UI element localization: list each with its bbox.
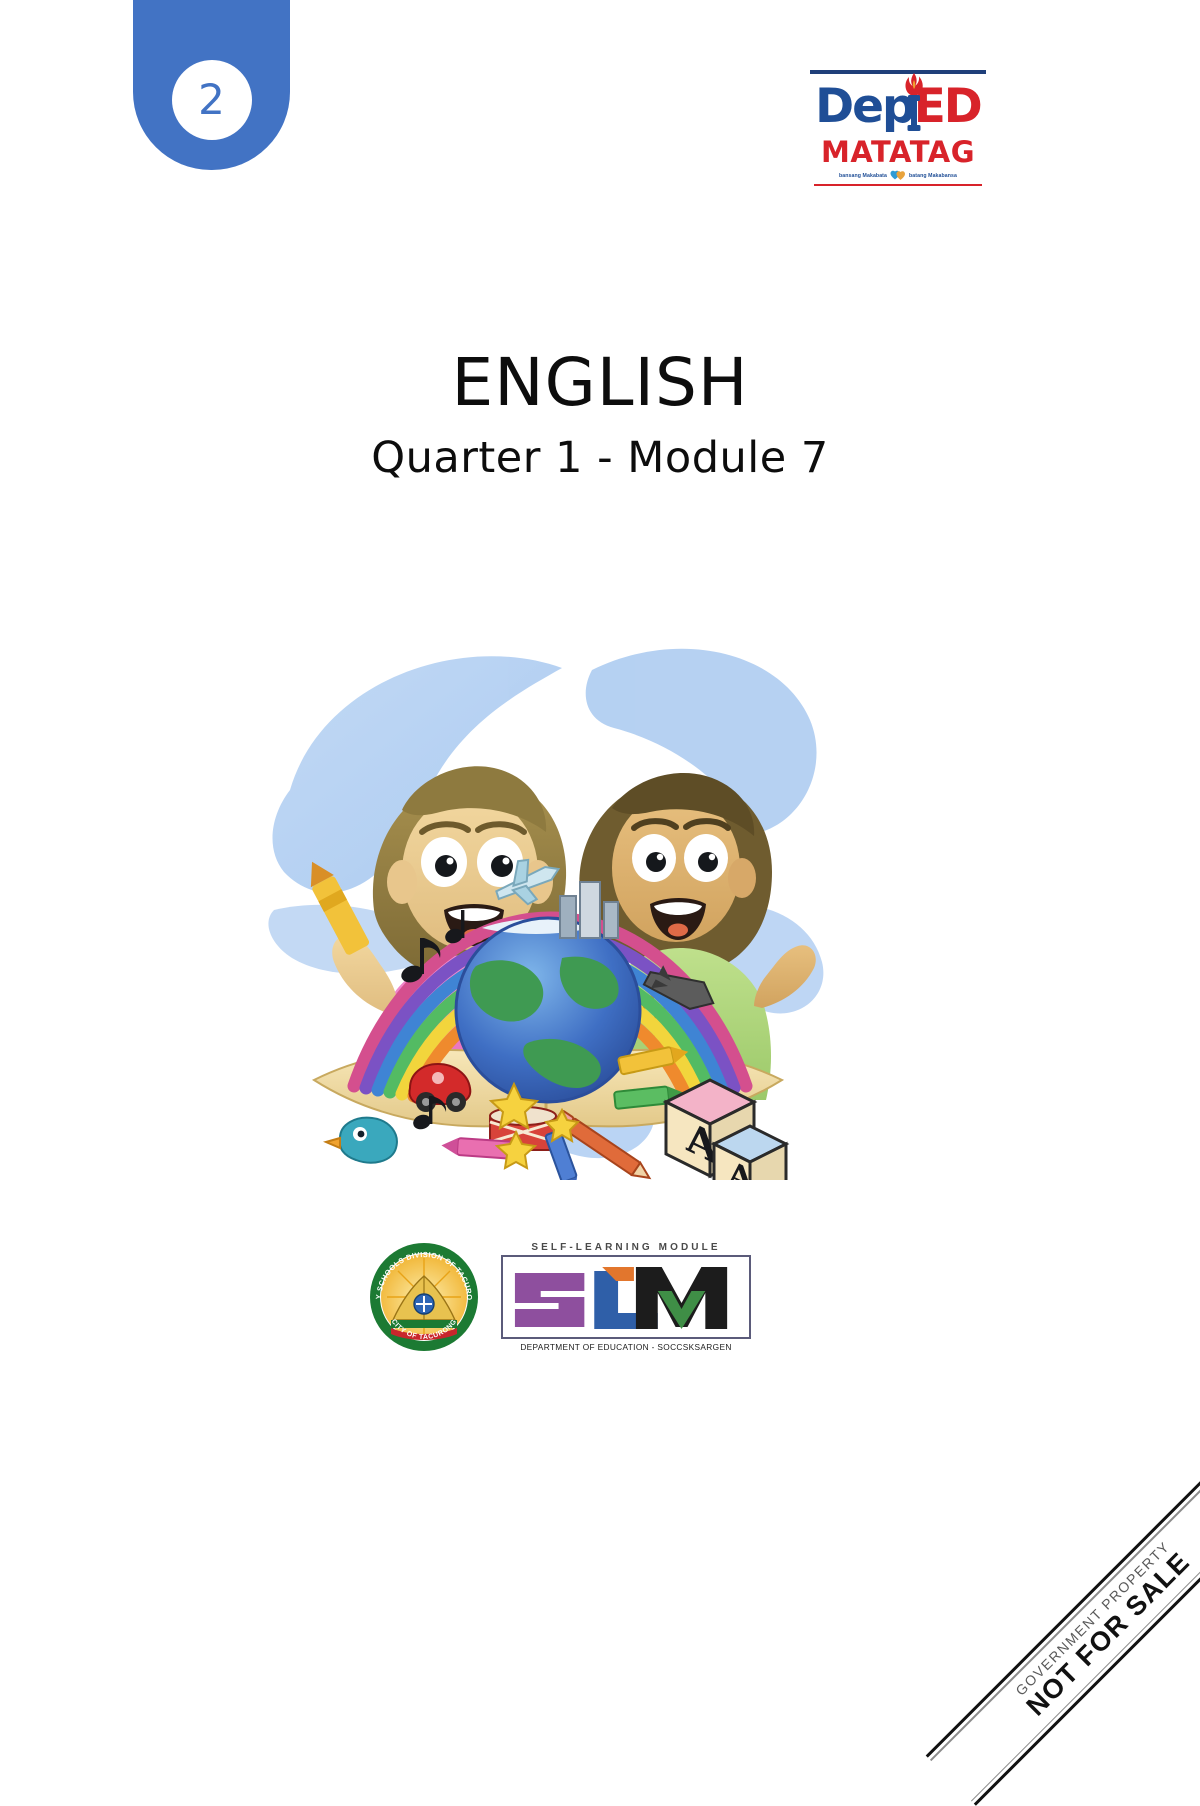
grade-level-number: 2 bbox=[172, 60, 252, 140]
ribbon-rule-inner-bottom bbox=[971, 1496, 1200, 1801]
ribbon-rule-inner-top bbox=[930, 1455, 1200, 1760]
slm-top-label: SELF-LEARNING MODULE bbox=[501, 1242, 751, 1253]
module-subtitle: Quarter 1 - Module 7 bbox=[0, 433, 1200, 483]
footer-logo-row: CITY SCHOOLS DIVISION OF TACURONG CITY O… bbox=[350, 1232, 770, 1362]
matatag-wordmark: MATATAG bbox=[808, 138, 988, 167]
toy-car bbox=[410, 1064, 471, 1112]
ribbon-government-property: GOVERNMENT PROPERTY bbox=[935, 1460, 1200, 1776]
globe bbox=[456, 918, 640, 1102]
division-seal-graphic: CITY SCHOOLS DIVISION OF TACURONG CITY O… bbox=[369, 1242, 479, 1352]
slm-box bbox=[501, 1255, 751, 1339]
matatag-bottom-rule bbox=[814, 184, 982, 186]
matatag-tagline-right: batang Makabansa bbox=[909, 173, 957, 179]
matatag-heart-icon bbox=[890, 170, 906, 181]
grade-level-badge: 2 bbox=[133, 0, 290, 170]
slm-bottom-label: DEPARTMENT OF EDUCATION - SOCCSKSARGEN bbox=[501, 1342, 751, 1352]
deped-top-rule bbox=[810, 70, 986, 74]
cover-illustration-graphic: A A bbox=[262, 610, 842, 1180]
ribbon-rule-outer-top bbox=[926, 1451, 1200, 1757]
abc-blocks: A A bbox=[666, 1080, 786, 1180]
deped-matatag-logo: DepED MATATAG bansang Makabata batang Ma… bbox=[808, 70, 988, 186]
matatag-tagline: bansang Makabata batang Makabansa bbox=[808, 170, 988, 181]
not-for-sale-ribbon: GOVERNMENT PROPERTY NOT FOR SALE bbox=[926, 1451, 1200, 1806]
ribbon-rule-outer-bottom bbox=[974, 1499, 1200, 1805]
matatag-tagline-left: bansang Makabata bbox=[839, 173, 887, 179]
deped-word-dep: Dep bbox=[815, 79, 914, 134]
torch-icon bbox=[901, 72, 927, 134]
cover-illustration: A A bbox=[262, 610, 842, 1180]
slm-logo: SELF-LEARNING MODULE DEPARTMENT OF EDUCA… bbox=[501, 1242, 751, 1352]
subject-title: ENGLISH bbox=[0, 348, 1200, 417]
module-cover-page: 2 DepED MATATAG bansang Makabata batang … bbox=[0, 0, 1200, 1696]
deped-wordmark: DepED bbox=[808, 80, 988, 134]
cover-title-block: ENGLISH Quarter 1 - Module 7 bbox=[0, 348, 1200, 483]
slm-monogram bbox=[507, 1261, 745, 1335]
ribbon-not-for-sale: NOT FOR SALE bbox=[946, 1472, 1200, 1797]
toy-bird bbox=[326, 1118, 397, 1163]
division-seal: CITY SCHOOLS DIVISION OF TACURONG CITY O… bbox=[369, 1242, 479, 1352]
